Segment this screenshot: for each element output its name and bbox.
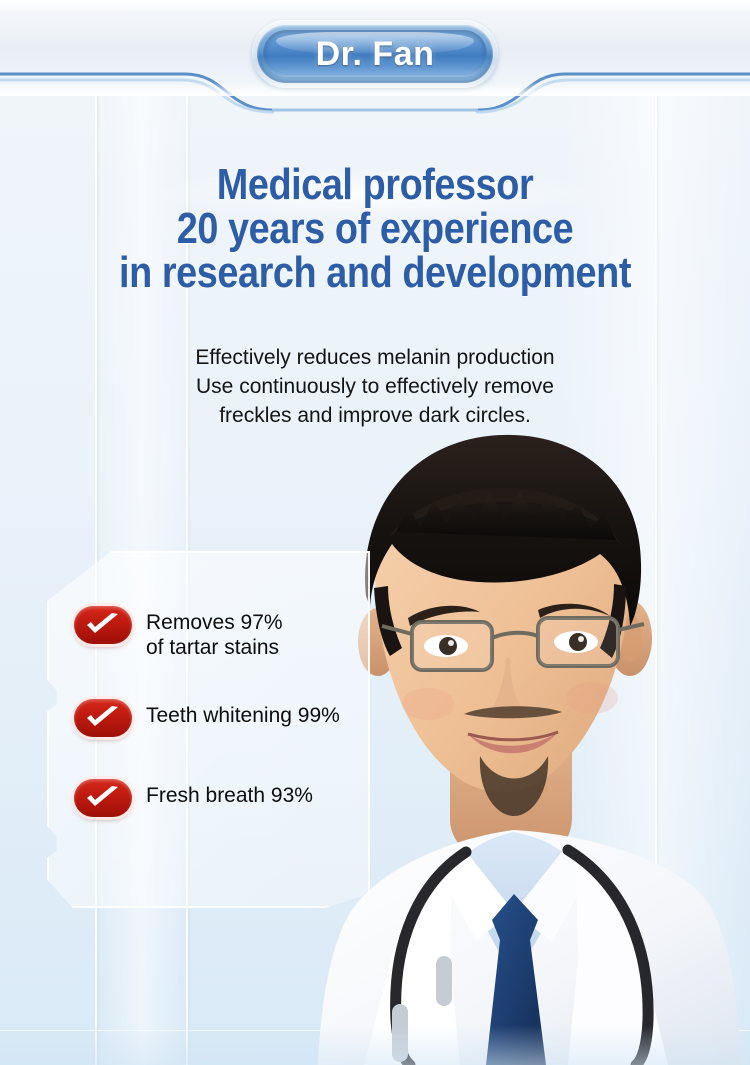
list-item-text: Removes 97% of tartar stains xyxy=(146,606,283,660)
headline: Medical professor 20 years of experience… xyxy=(53,163,698,295)
list-item-line-1: Teeth whitening 99% xyxy=(146,703,340,728)
list-item: Removes 97% of tartar stains xyxy=(74,606,404,660)
list-item-line-2: of tartar stains xyxy=(146,635,283,660)
headline-line-3: in research and development xyxy=(53,251,698,295)
subcopy-line-1: Effectively reduces melanin production xyxy=(0,343,750,372)
doctor-name-label: Dr. Fan xyxy=(252,20,498,88)
header-bar: Dr. Fan xyxy=(0,0,750,96)
headline-line-1: Medical professor xyxy=(53,163,698,207)
list-item-text: Teeth whitening 99% xyxy=(146,699,340,728)
list-item: Fresh breath 93% xyxy=(74,779,404,817)
doctor-name-badge: Dr. Fan xyxy=(252,20,498,88)
list-item-text: Fresh breath 93% xyxy=(146,779,313,808)
list-item: Teeth whitening 99% xyxy=(74,699,404,737)
list-item-line-1: Removes 97% xyxy=(146,610,283,635)
check-icon xyxy=(74,699,132,737)
headline-line-2: 20 years of experience xyxy=(53,207,698,251)
check-icon xyxy=(74,606,132,644)
list-item-line-1: Fresh breath 93% xyxy=(146,783,313,808)
subcopy: Effectively reduces melanin production U… xyxy=(0,343,750,430)
check-icon xyxy=(74,779,132,817)
bottom-fade xyxy=(0,1025,750,1065)
feature-list: Removes 97% of tartar stains Teeth white… xyxy=(74,606,404,856)
promo-banner: Dr. Fan Medical professor 20 years of ex… xyxy=(0,0,750,1065)
subcopy-line-2: Use continuously to effectively remove xyxy=(0,372,750,401)
